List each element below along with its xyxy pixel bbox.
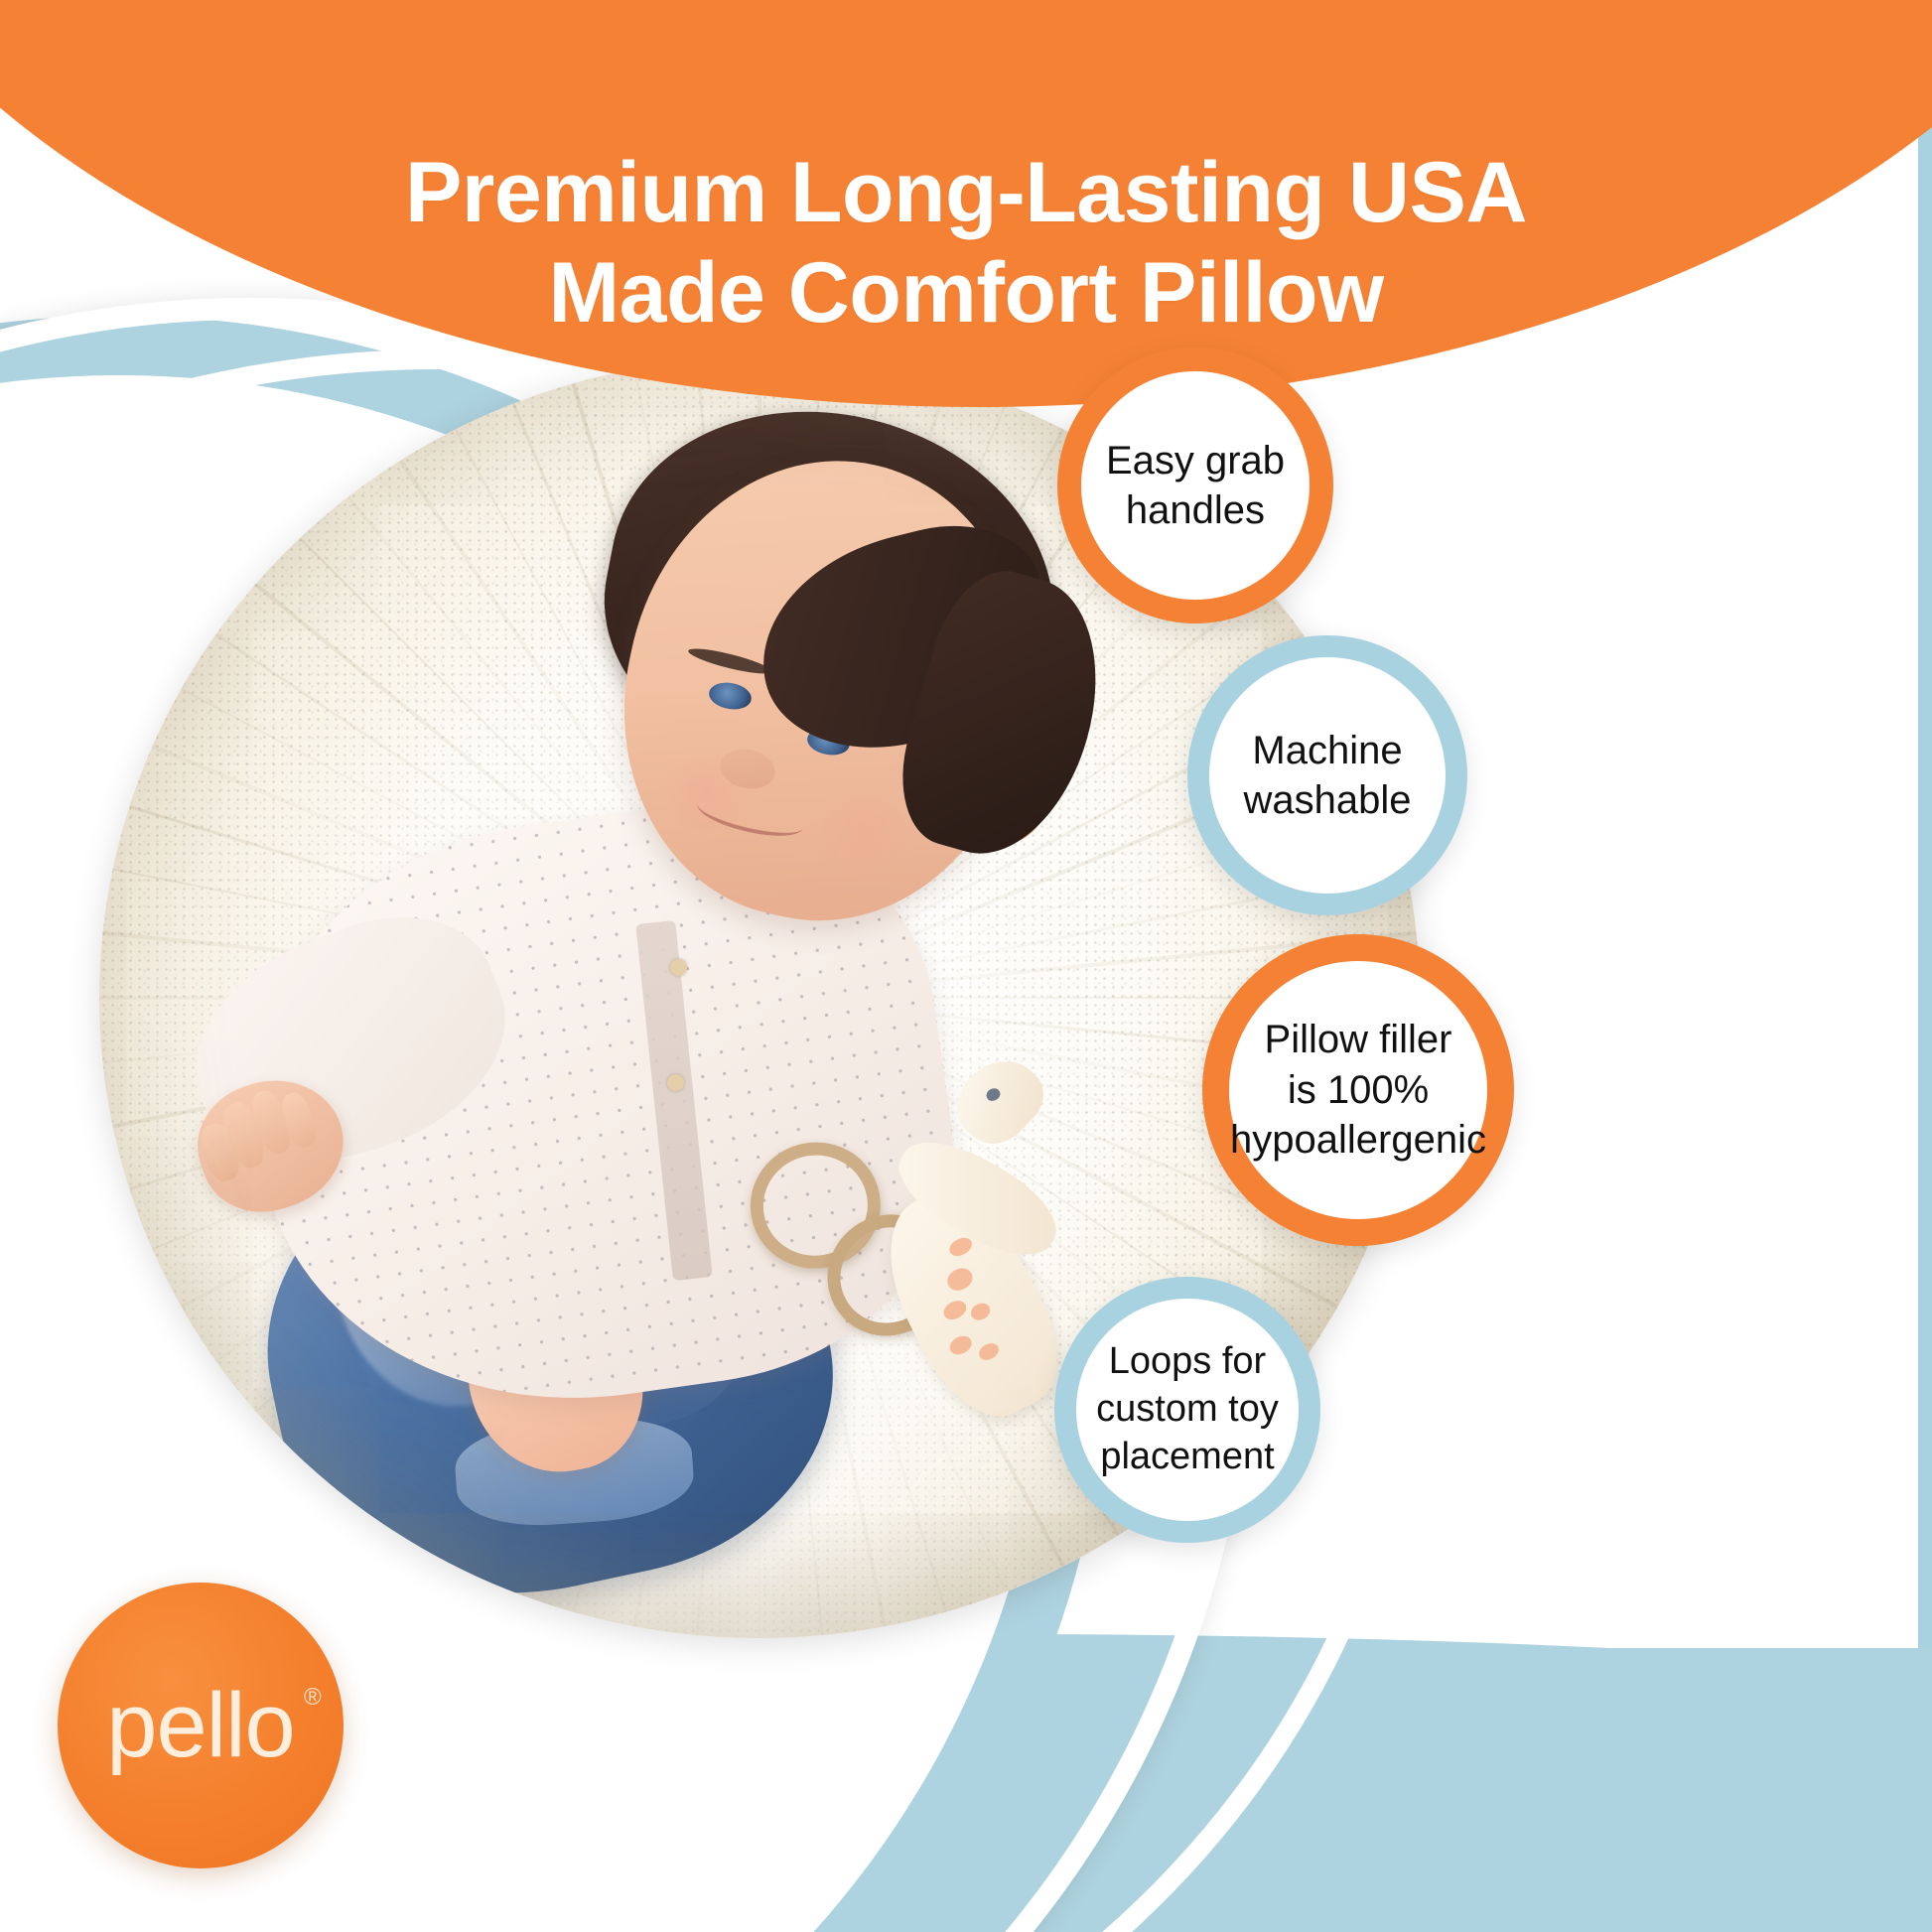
- title-line-2: Made Comfort Pillow: [228, 243, 1704, 344]
- feature-badge-machine-washable[interactable]: Machinewashable: [1187, 635, 1467, 915]
- pello-logo-text: pello: [106, 1675, 294, 1776]
- feature-badge-toy-loops[interactable]: Loops forcustom toyplacement: [1054, 1277, 1320, 1543]
- feature-badge-label: Pillow filleris 100%hypoallergenic: [1230, 1015, 1486, 1165]
- title-line-1: Premium Long-Lasting USA: [405, 145, 1527, 240]
- poster-canvas: Premium Long-Lasting USA Made Comfort Pi…: [0, 0, 1932, 1932]
- feature-badge-label: Loops forcustom toyplacement: [1096, 1338, 1279, 1481]
- pello-logo-wordmark: pello ®: [106, 1680, 294, 1771]
- feature-badge-label: Easy grabhandles: [1106, 436, 1285, 536]
- feature-badge-easy-grab-handles[interactable]: Easy grabhandles: [1057, 347, 1333, 623]
- page-title: Premium Long-Lasting USA Made Comfort Pi…: [0, 143, 1932, 345]
- registered-trademark-icon: ®: [304, 1686, 321, 1710]
- pello-logo[interactable]: pello ®: [58, 1583, 344, 1868]
- feature-badge-hypoallergenic[interactable]: Pillow filleris 100%hypoallergenic: [1202, 934, 1514, 1246]
- feature-badge-label: Machinewashable: [1243, 726, 1411, 826]
